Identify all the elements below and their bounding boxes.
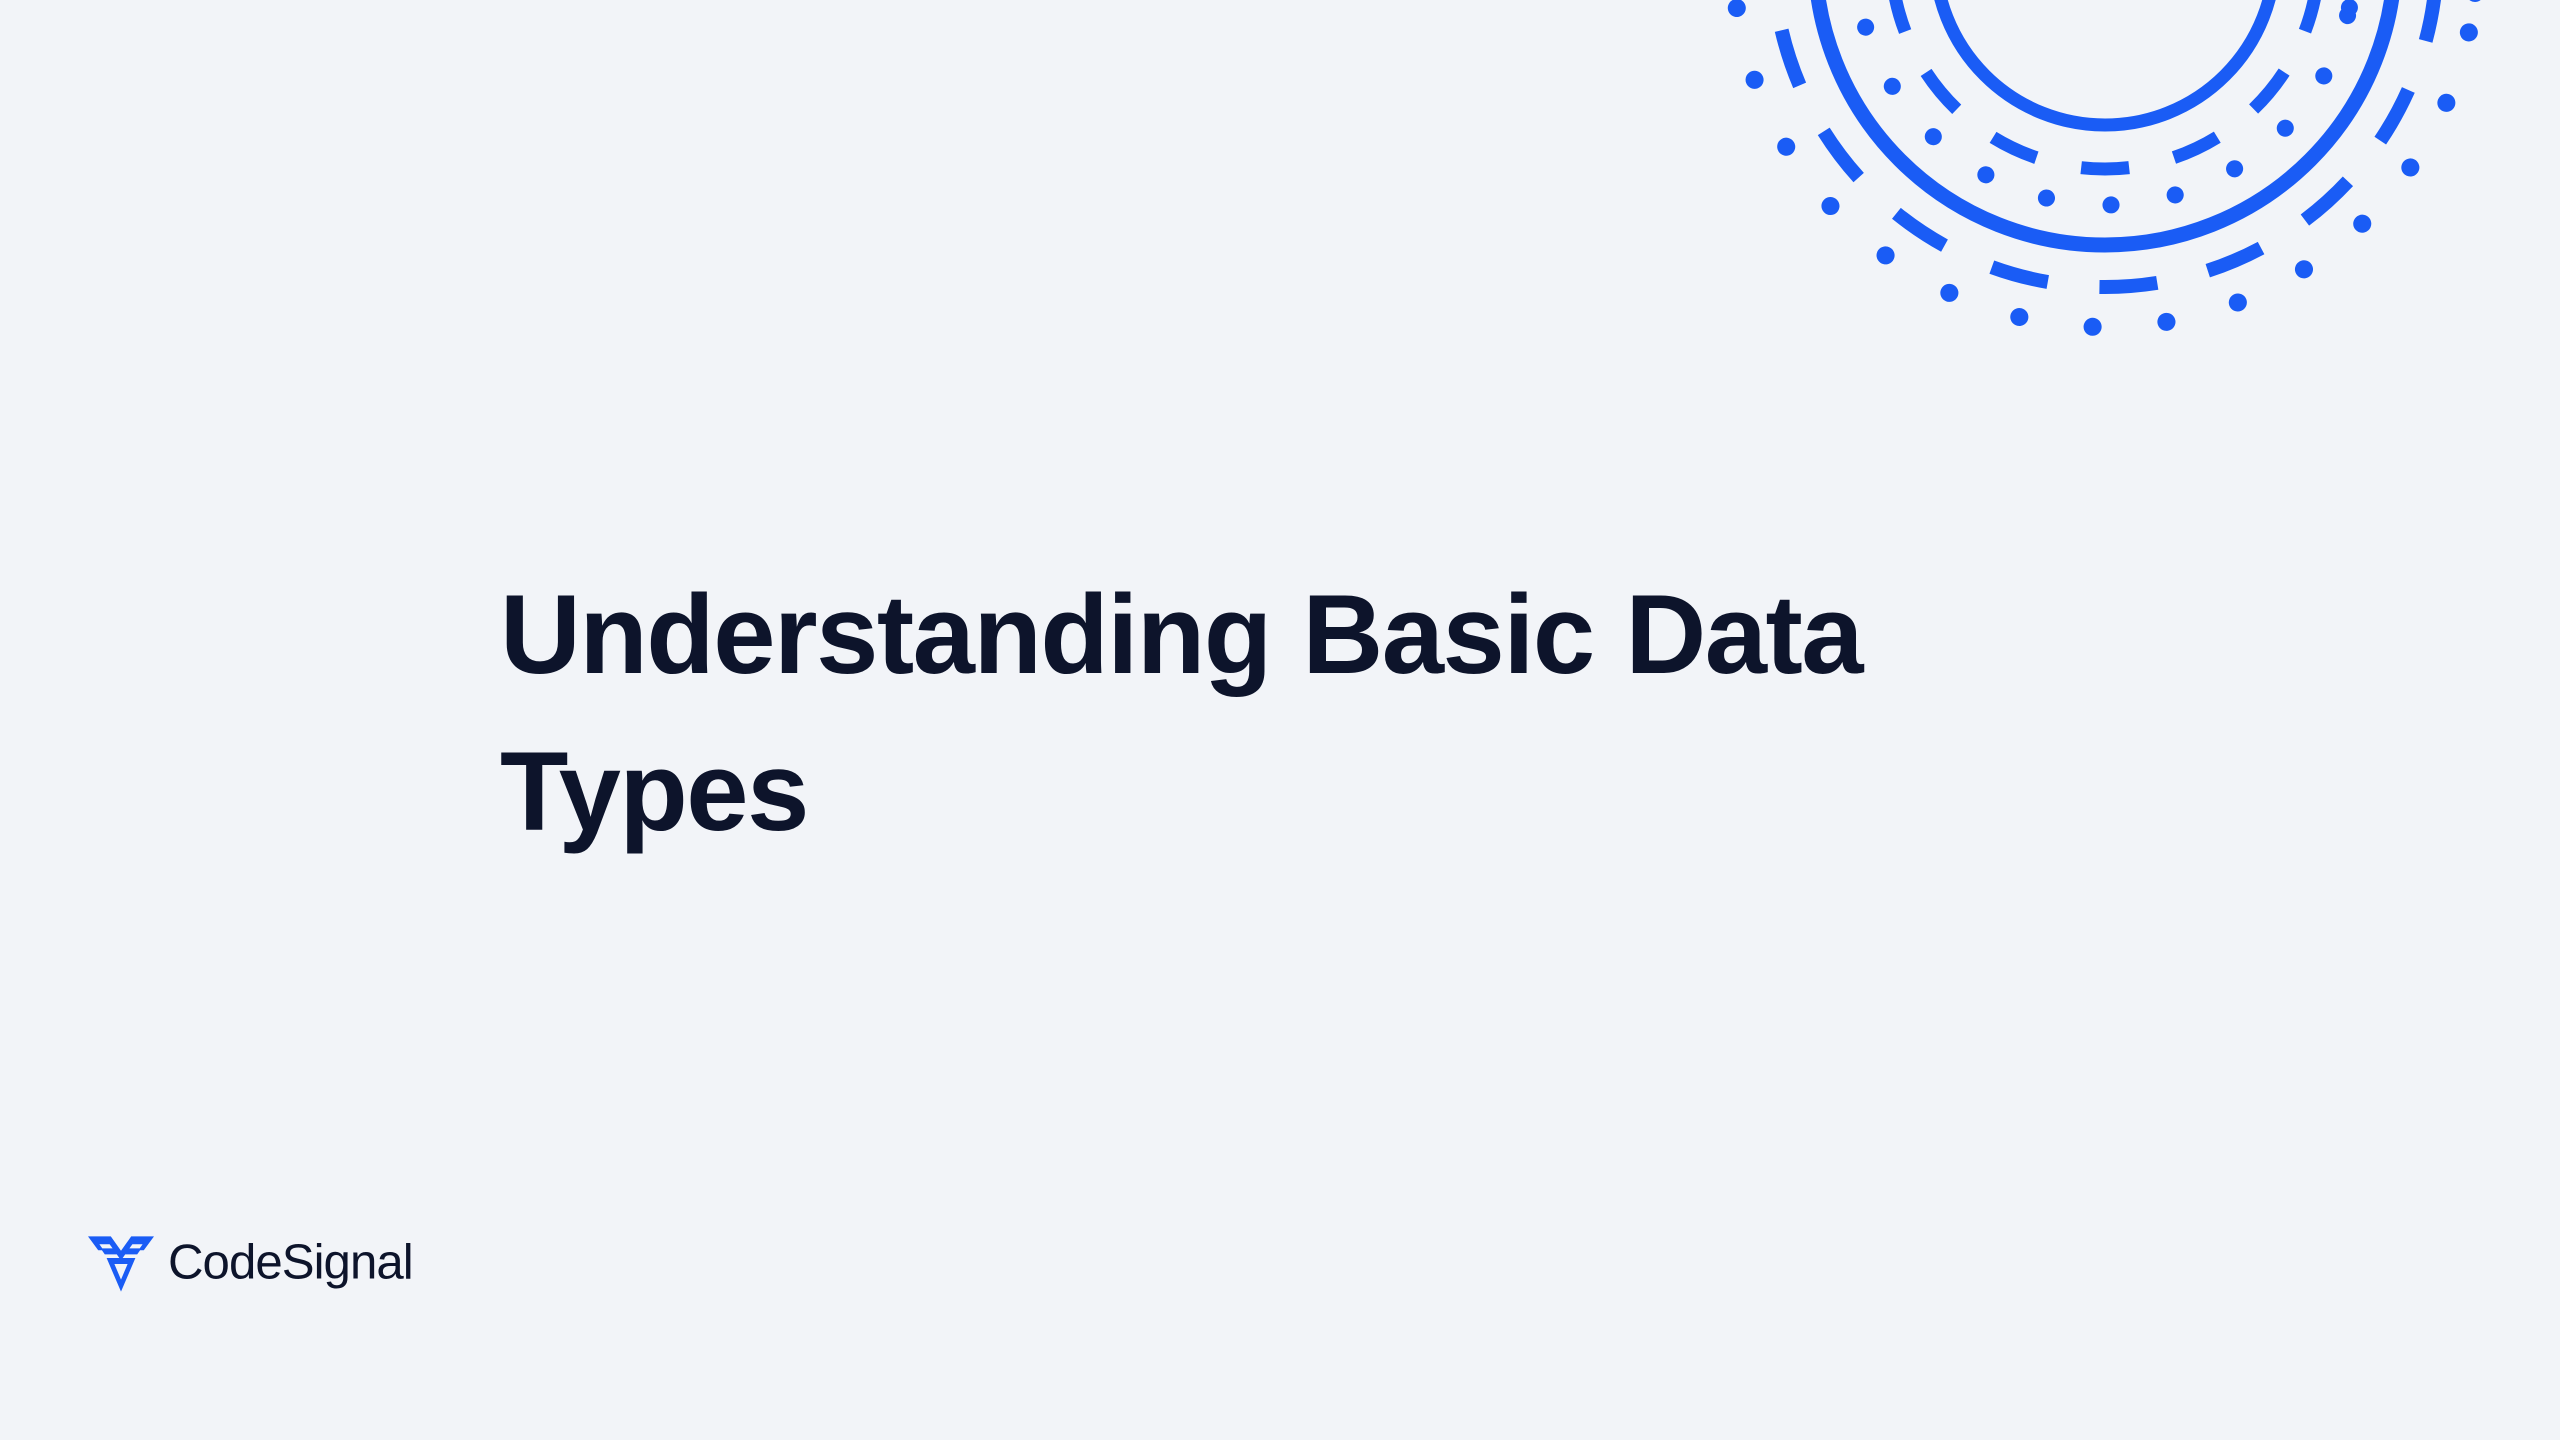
ring-dotted-1 bbox=[1802, 0, 2408, 258]
codesignal-mark-icon bbox=[88, 1234, 154, 1294]
codesignal-logo: CodeSignal bbox=[88, 1228, 433, 1300]
title-slide: Understanding Basic Data Types CodeSigna… bbox=[0, 0, 2560, 1440]
ring-solid-inner bbox=[1935, 0, 2275, 125]
svg-text:CodeSignal: CodeSignal bbox=[168, 1238, 413, 1290]
codesignal-wordmark: CodeSignal bbox=[168, 1238, 433, 1290]
ring-dotted-2 bbox=[1664, 0, 2546, 396]
ring-solid-mid bbox=[1815, 0, 2395, 245]
page-title: Understanding Basic Data Types bbox=[500, 556, 2000, 870]
ring-dashed-2 bbox=[1745, 0, 2464, 315]
ring-dashed-1 bbox=[1863, 0, 2346, 197]
title-block: Understanding Basic Data Types bbox=[500, 556, 2000, 870]
